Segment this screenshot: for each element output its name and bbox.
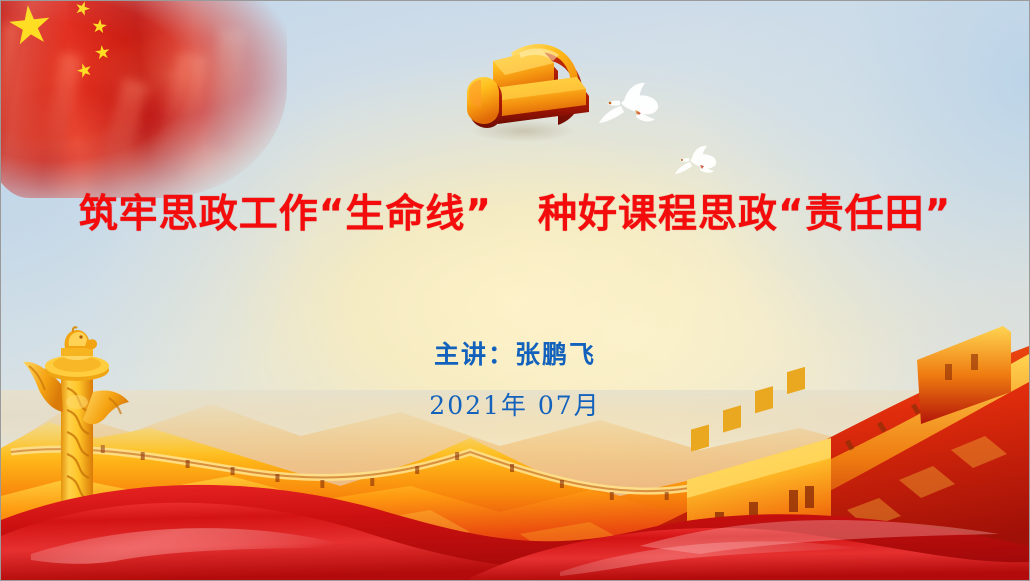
red-silk-ribbon [1,450,1029,580]
china-flag-icon [0,0,287,198]
presenter-label: 主讲：张鹏飞 [1,335,1029,371]
cpc-hammer-sickle-emblem-icon [453,19,593,144]
peace-dove-icon [597,79,665,139]
presentation-title-slide: 筑牢思政工作“生命线” 种好课程思政“责任田” 主讲：张鹏飞 2021年 07月 [0,0,1030,581]
date-label: 2021年 07月 [1,386,1029,422]
peace-dove-icon [673,143,721,185]
